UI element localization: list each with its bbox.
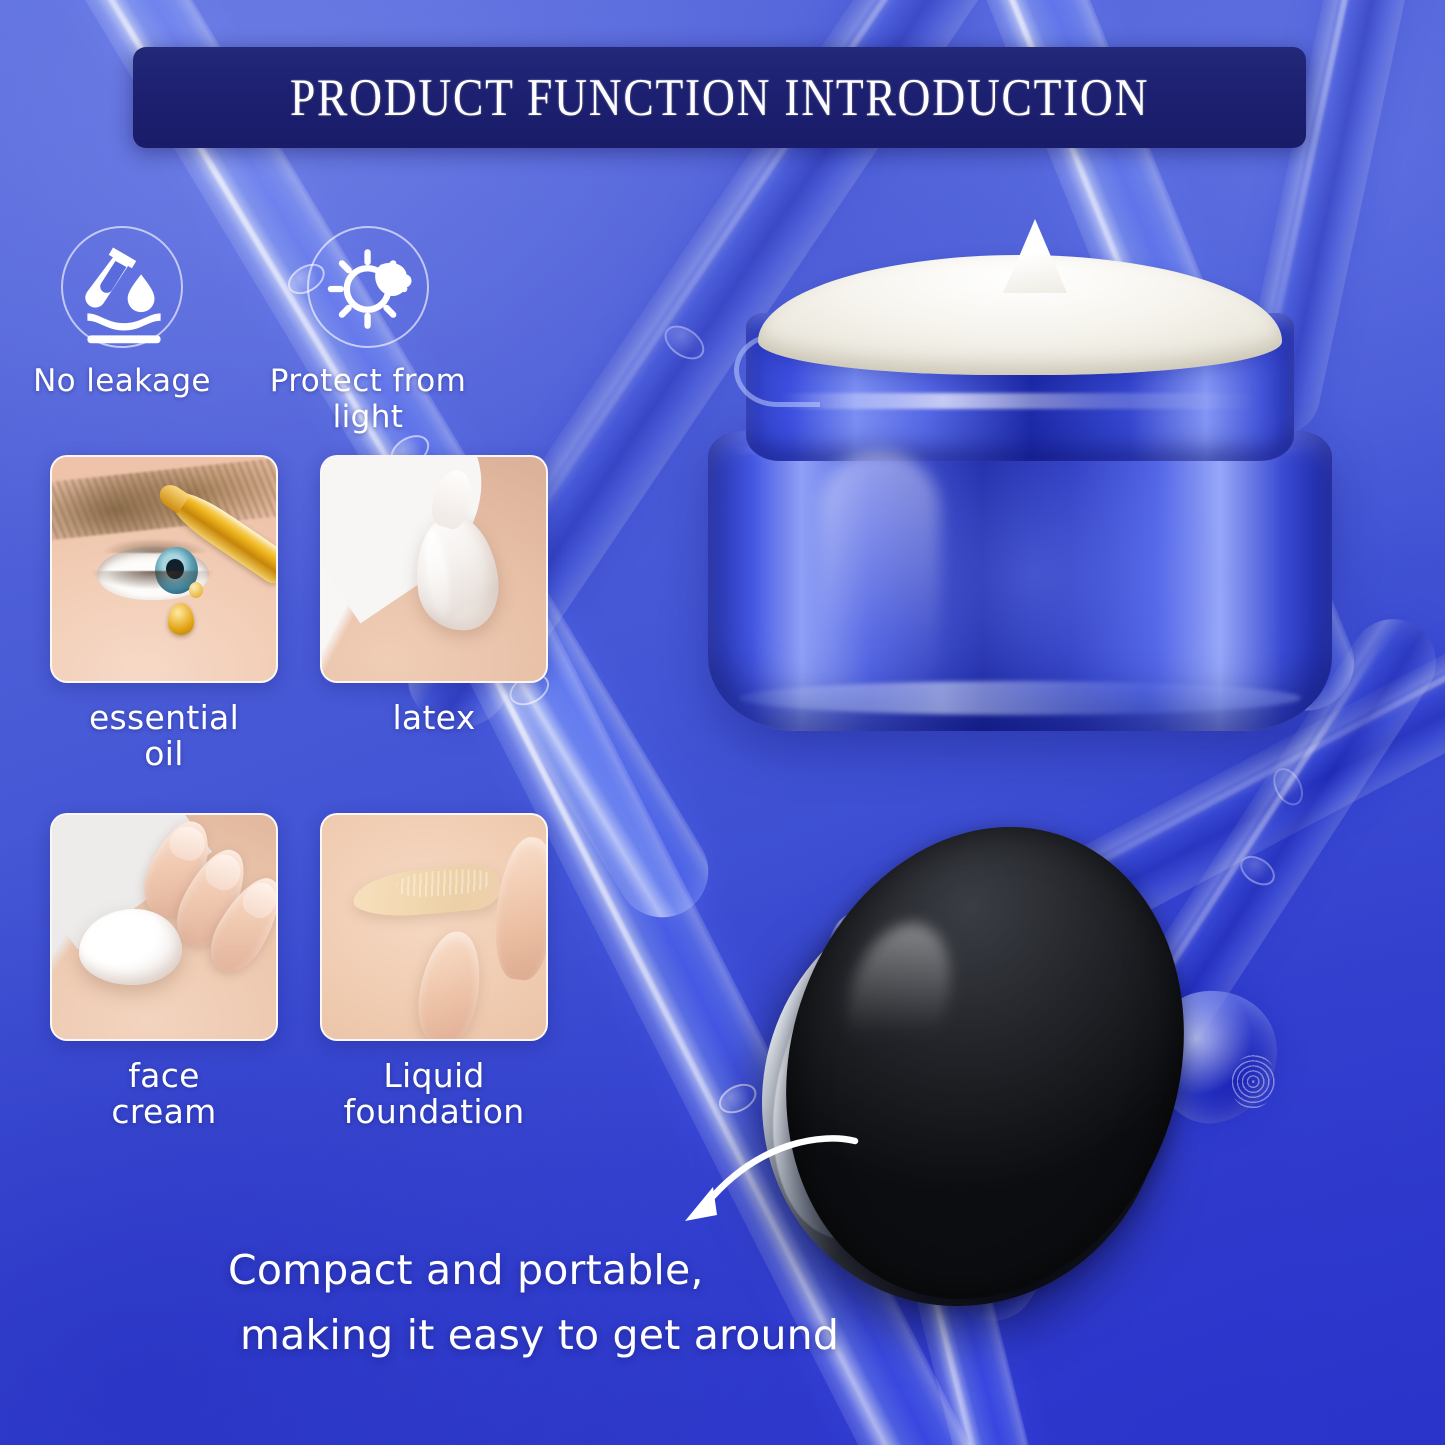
thumbnail-caption: latex [320,700,548,736]
latex-image [320,455,548,683]
thumbnail-latex[interactable]: latex [320,455,548,736]
jar-body [708,431,1332,731]
caption-line-1: essential [89,698,239,737]
title-banner: PRODUCT FUNCTION INTRODUCTION [133,47,1306,148]
feature-label: No leakage [2,363,242,399]
protect-from-light-icon [309,228,431,350]
feature-no-leakage: No leakage [2,226,242,399]
thumbnail-caption: essential oil [50,700,278,771]
caption-line-2: cream [111,1092,216,1131]
essential-oil-image [50,455,278,683]
feature-icon-frame [307,226,429,348]
curved-arrow-icon [655,1125,865,1245]
feature-protect-from-light: Protect from light [248,226,488,435]
face-cream-image [50,813,278,1041]
caption-line-2: oil [144,734,183,773]
caption-line-1: latex [392,698,475,737]
pointer-arrow [655,1125,865,1245]
product-jar [700,255,1340,745]
liquid-foundation-image [320,813,548,1041]
bottom-caption: Compact and portable, making it easy to … [228,1238,948,1368]
caption-line-2: making it easy to get around [240,1303,948,1368]
page-title: PRODUCT FUNCTION INTRODUCTION [290,68,1149,128]
product-poster: PRODUCT FUNCTION INTRODUCTION No leakage [0,0,1445,1445]
thumbnail-essential-oil[interactable]: essential oil [50,455,278,771]
thumbnail-caption: face cream [50,1058,278,1129]
feature-icon-frame [61,226,183,348]
thumbnail-liquid-foundation[interactable]: Liquid foundation [320,813,548,1129]
feature-label: Protect from light [248,363,488,435]
thumbnail-face-cream[interactable]: face cream [50,813,278,1129]
caption-line-1: Liquid [383,1056,484,1095]
no-leakage-icon [63,228,185,350]
caption-line-2: foundation [343,1092,524,1131]
jar-highlight [820,451,940,709]
caption-line-1: face [128,1056,200,1095]
thumbnail-caption: Liquid foundation [320,1058,548,1129]
caption-line-1: Compact and portable, [228,1238,948,1303]
